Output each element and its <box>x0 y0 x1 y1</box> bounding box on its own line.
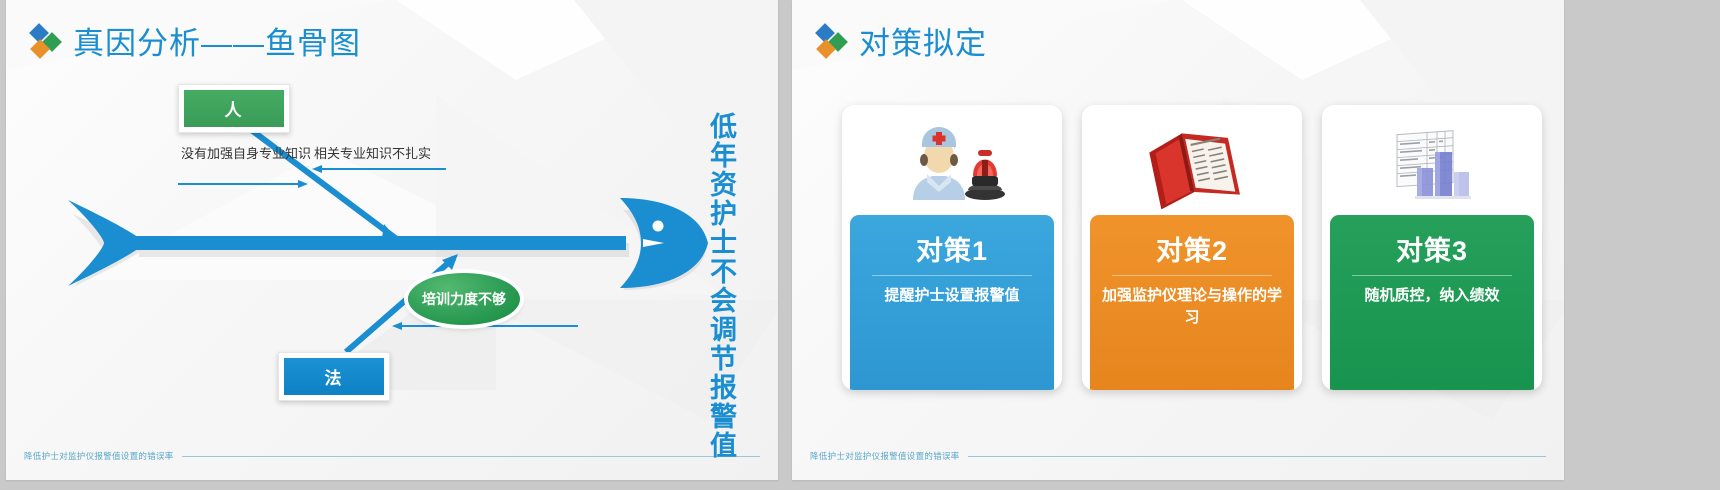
category-box-method-label: 法 <box>284 358 384 395</box>
cause-label-2: 相关专业知识不扎实 <box>314 145 431 163</box>
red-book-icon <box>1137 117 1247 215</box>
fishbone-head-label: 低年资护士不会调节报警值 <box>706 112 736 460</box>
countermeasure-title: 对策1 <box>916 229 988 268</box>
fishbone-svg <box>6 0 778 480</box>
countermeasure-panel: 对策2 加强监护仪理论与操作的学习 <box>1090 215 1294 390</box>
slide-deck: 真因分析——鱼骨图 <box>0 0 1720 490</box>
footer-text: 降低护士对监护仪报警值设置的错误率 <box>24 450 174 462</box>
slide-footer-left: 降低护士对监护仪报警值设置的错误率 <box>24 450 760 462</box>
footer-divider <box>182 456 760 457</box>
countermeasure-title: 对策2 <box>1156 229 1228 268</box>
fishbone-diagram <box>6 0 778 480</box>
page-title: 对策拟定 <box>859 18 987 63</box>
panel-divider <box>872 275 1032 276</box>
category-box-person-label: 人 <box>184 90 284 127</box>
countermeasure-desc: 加强监护仪理论与操作的学习 <box>1102 285 1282 329</box>
countermeasure-panel: 对策1 提醒护士设置报警值 <box>850 215 1054 390</box>
countermeasure-desc: 随机质控，纳入绩效 <box>1342 285 1522 307</box>
countermeasure-card[interactable]: 对策1 提醒护士设置报警值 <box>842 105 1062 390</box>
countermeasure-desc: 提醒护士设置报警值 <box>862 285 1042 307</box>
cause-bubble-training[interactable]: 培训力度不够 <box>408 273 520 325</box>
chart-report-icon <box>1377 117 1487 215</box>
cause-label-1: 没有加强自身专业知识 <box>181 145 311 163</box>
countermeasure-panel: 对策3 随机质控，纳入绩效 <box>1330 215 1534 390</box>
category-box-method[interactable]: 法 <box>278 352 390 401</box>
diamond-cluster-icon <box>816 24 850 58</box>
panel-divider <box>1352 275 1512 276</box>
countermeasure-title: 对策3 <box>1396 229 1468 268</box>
panel-divider <box>1112 275 1272 276</box>
countermeasure-card[interactable]: 对策3 随机质控，纳入绩效 <box>1322 105 1542 390</box>
slide-footer-right: 降低护士对监护仪报警值设置的错误率 <box>810 450 1546 462</box>
footer-divider <box>968 456 1546 457</box>
footer-text: 降低护士对监护仪报警值设置的错误率 <box>810 450 960 462</box>
nurse-alarm-icon <box>893 117 1011 215</box>
slide-countermeasures: 对策拟定 <box>792 0 1564 480</box>
slide-header-left: 真因分析——鱼骨图 <box>30 18 361 63</box>
countermeasure-card-list: 对策1 提醒护士设置报警值 <box>842 105 1542 390</box>
slide-fishbone-analysis: 真因分析——鱼骨图 <box>6 0 778 480</box>
page-title: 真因分析——鱼骨图 <box>73 18 361 63</box>
slide-header-right: 对策拟定 <box>816 18 987 63</box>
background-facet <box>1122 0 1562 80</box>
countermeasure-card[interactable]: 对策2 加强监护仪理论与操作的学习 <box>1082 105 1302 390</box>
category-box-person[interactable]: 人 <box>178 84 290 133</box>
diamond-cluster-icon <box>30 24 64 58</box>
